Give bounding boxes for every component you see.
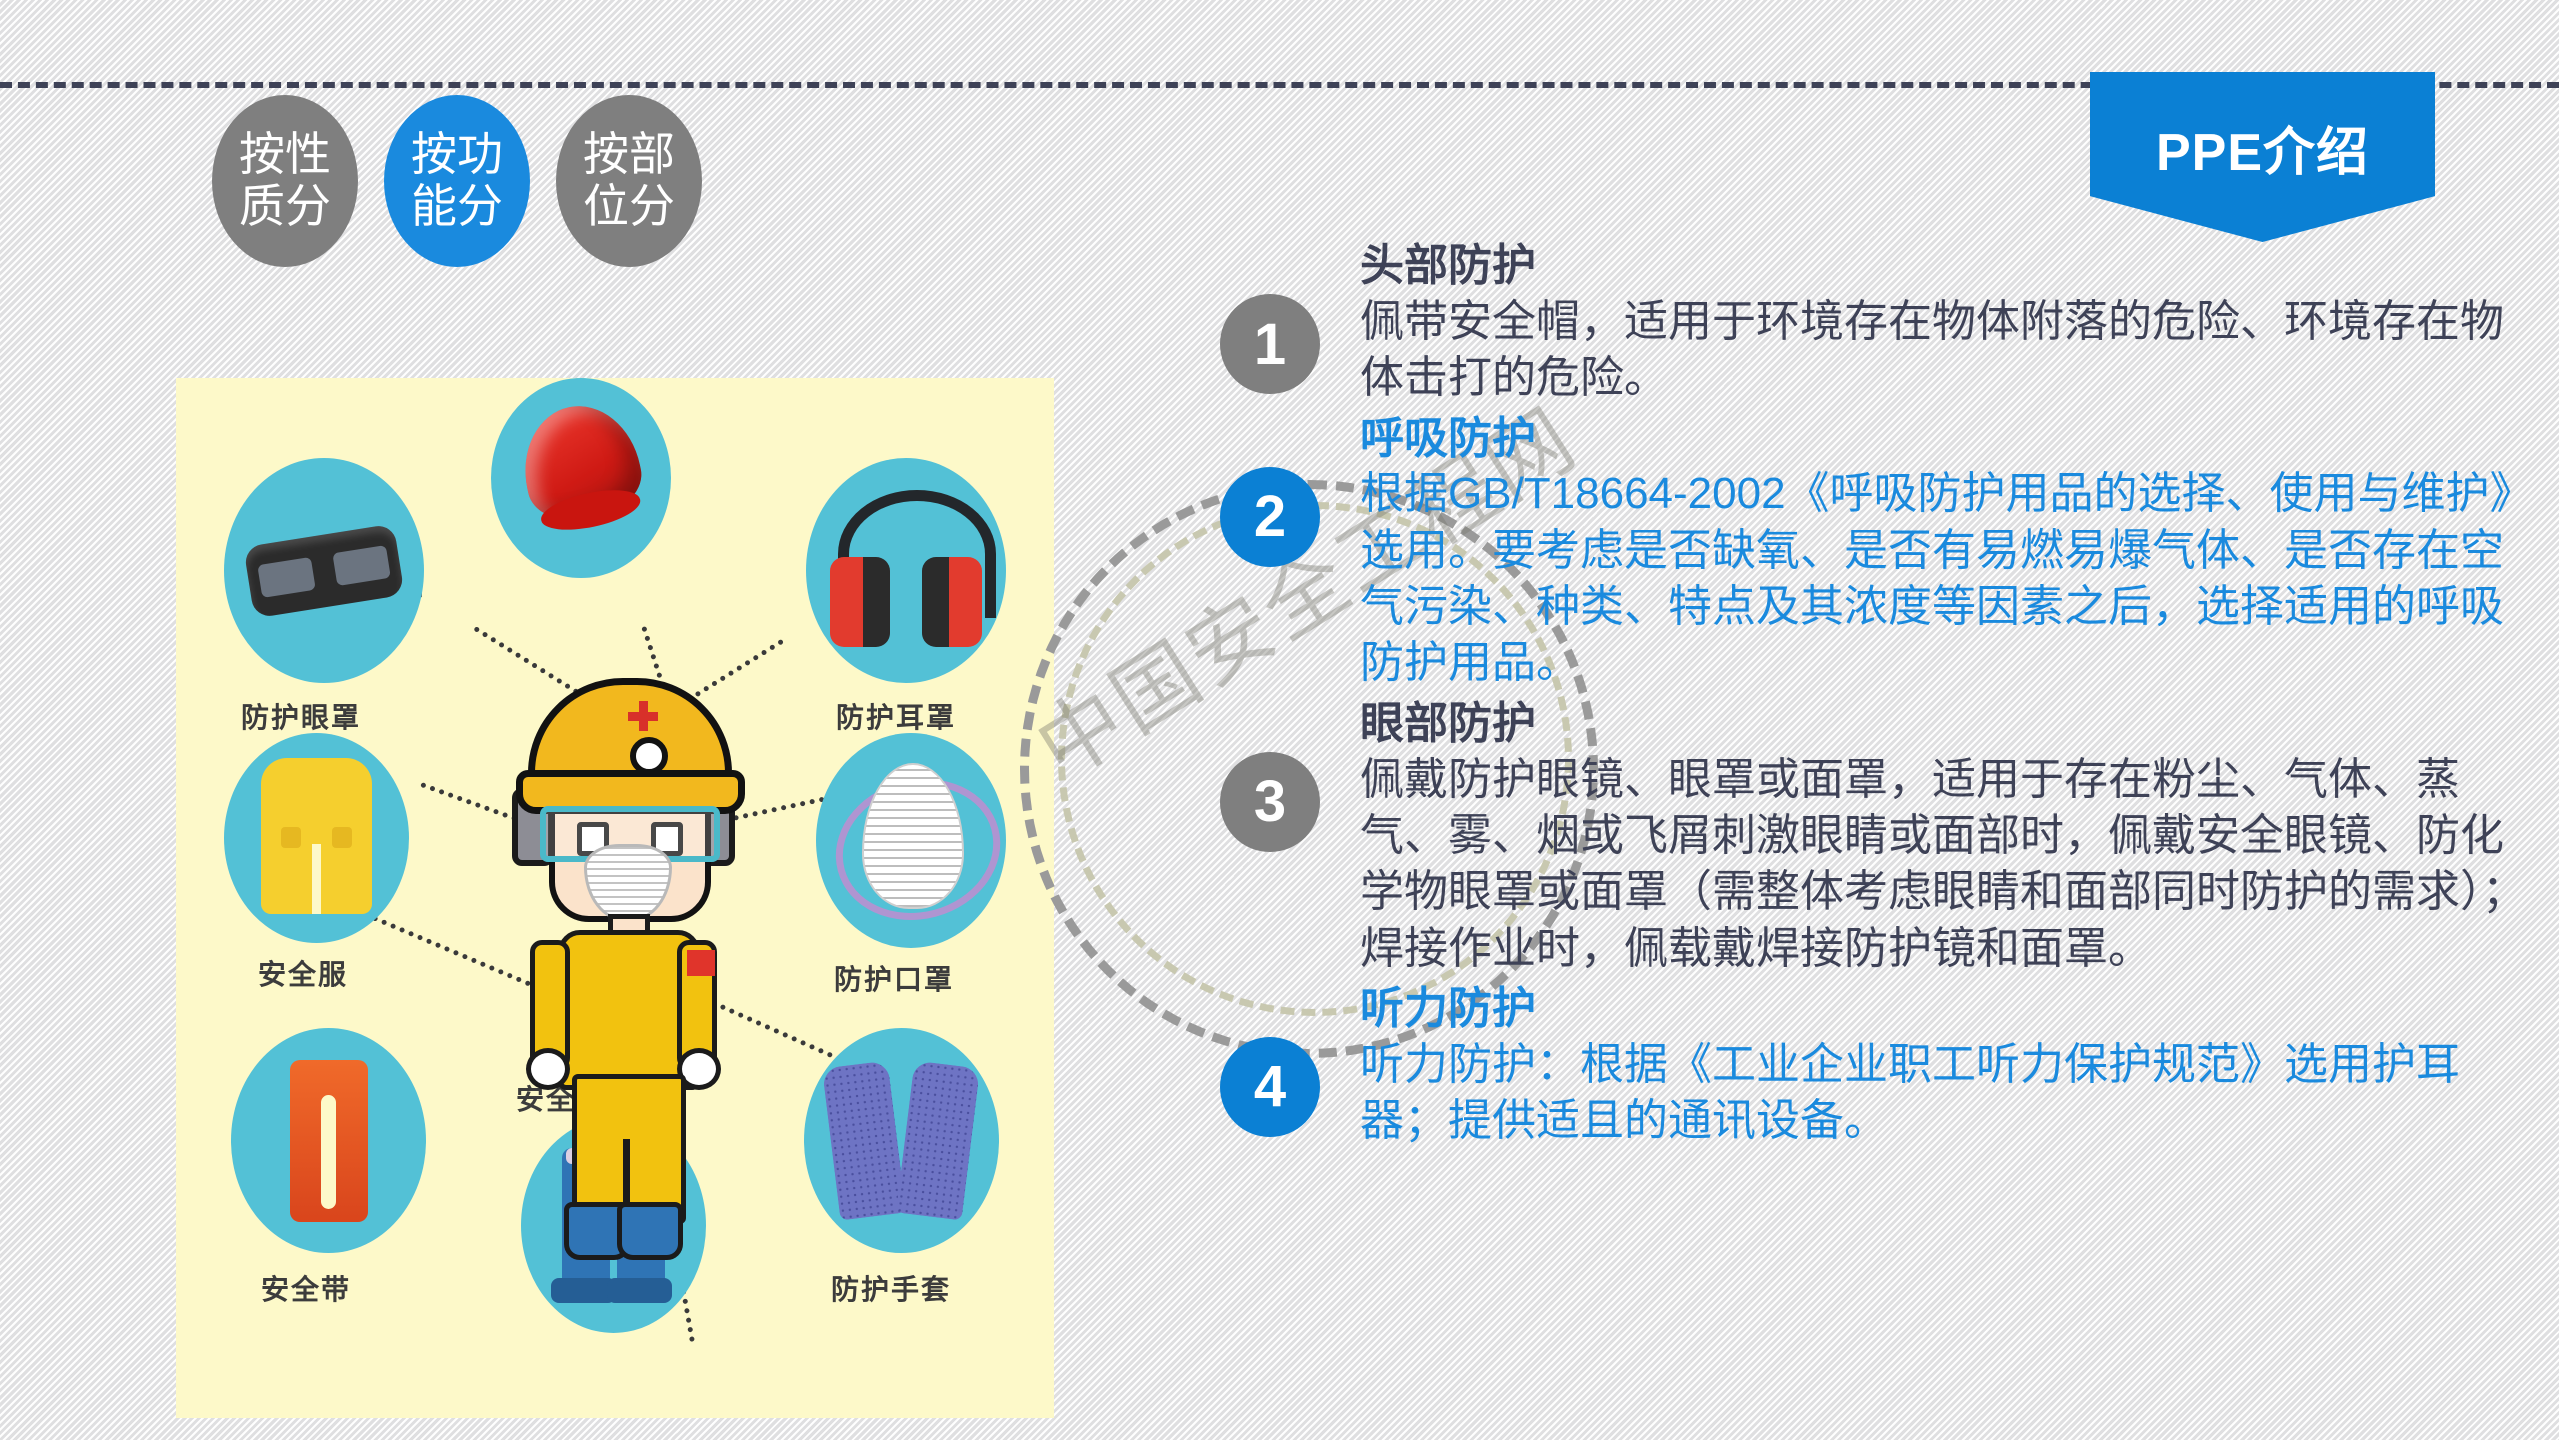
hard-hat-icon bbox=[513, 395, 649, 529]
coverall-pocket-left bbox=[281, 827, 301, 849]
category-pill-by-bodypart-line1: 按部 bbox=[583, 129, 675, 181]
safety-gloves-icon bbox=[822, 1061, 906, 1221]
ppe-item-eye-protection: 3 眼部防护 佩戴防护眼镜、眼罩或面罩，适用于存在粉尘、气体、蒸气、雾、烟或飞屑… bbox=[1220, 698, 2540, 977]
ear-muffs-cup-right bbox=[922, 557, 982, 647]
ppe-item-2-number: 2 bbox=[1220, 467, 1320, 567]
safety-goggles-icon bbox=[243, 523, 404, 618]
node-harness-label: 安全带 bbox=[261, 1268, 351, 1308]
ppe-item-3-number: 3 bbox=[1220, 752, 1320, 852]
worker-boot-right bbox=[617, 1202, 683, 1260]
category-pill-by-function-line2: 能分 bbox=[411, 181, 503, 233]
node-goggles-label: 防护眼罩 bbox=[241, 696, 361, 736]
category-pill-group: 按性 质分 按功 能分 按部 位分 bbox=[212, 95, 702, 267]
node-coverall[interactable] bbox=[224, 733, 409, 943]
ppe-illustration-panel: 安全帽 防护眼罩 防护耳罩 安全服 防护口罩 安全带 安全鞋 防护手套 bbox=[176, 378, 1054, 1418]
category-pill-by-nature-line1: 按性 bbox=[239, 129, 331, 181]
category-pill-by-bodypart[interactable]: 按部 位分 bbox=[556, 95, 702, 267]
category-pill-by-function-line1: 按功 bbox=[411, 129, 503, 181]
ppe-item-4-title: 听力防护 bbox=[1360, 983, 2540, 1035]
ppe-item-1-title: 头部防护 bbox=[1360, 240, 2540, 292]
ppe-item-2-title: 呼吸防护 bbox=[1360, 413, 2540, 465]
node-earmuff[interactable] bbox=[806, 458, 1006, 683]
node-mask[interactable] bbox=[816, 733, 1006, 948]
node-gloves-label: 防护手套 bbox=[831, 1268, 951, 1308]
node-goggles[interactable] bbox=[224, 458, 424, 683]
node-harness[interactable] bbox=[231, 1028, 426, 1253]
category-pill-by-function[interactable]: 按功 能分 bbox=[384, 95, 530, 267]
worker-red-cross-icon bbox=[628, 701, 658, 731]
category-pill-by-bodypart-line2: 位分 bbox=[583, 181, 675, 233]
coverall-pocket-right bbox=[332, 827, 352, 849]
ppe-item-4-number: 4 bbox=[1220, 1037, 1320, 1137]
ppe-banner-label: PPE介绍 bbox=[2156, 110, 2369, 185]
worker-armband bbox=[687, 950, 715, 976]
ppe-item-3-title: 眼部防护 bbox=[1360, 698, 2540, 750]
category-pill-by-nature-line2: 质分 bbox=[239, 181, 331, 233]
safety-gloves-icon-right bbox=[896, 1061, 980, 1221]
node-gloves[interactable] bbox=[804, 1028, 999, 1253]
ppe-item-hearing-protection: 4 听力防护 听力防护：根据《工业企业职工听力保护规范》选用护耳器；提供适且的通… bbox=[1220, 983, 2540, 1150]
ppe-item-head-protection: 1 头部防护 佩带安全帽，适用于环境存在物体附落的危险、环境存在物体击打的危险。 bbox=[1220, 240, 2540, 407]
ppe-item-3-body: 佩戴防护眼镜、眼罩或面罩，适用于存在粉尘、气体、蒸气、雾、烟或飞屑刺激眼睛或面部… bbox=[1360, 752, 2540, 977]
coverall-icon bbox=[261, 758, 372, 913]
ppe-item-1-body: 佩带安全帽，适用于环境存在物体附落的危险、环境存在物体击打的危险。 bbox=[1360, 294, 2540, 407]
worker-figure-icon bbox=[516, 678, 731, 1278]
ppe-banner: PPE介绍 bbox=[2090, 72, 2435, 242]
ppe-item-2-body: 根据GB/T18664-2002《呼吸防护用品的选择、使用与维护》选用。要考虑是… bbox=[1360, 466, 2540, 691]
ppe-item-respiratory-protection: 2 呼吸防护 根据GB/T18664-2002《呼吸防护用品的选择、使用与维护》… bbox=[1220, 413, 2540, 692]
safety-harness-icon bbox=[290, 1060, 368, 1222]
category-pill-by-nature[interactable]: 按性 质分 bbox=[212, 95, 358, 267]
ppe-detail-list: 1 头部防护 佩带安全帽，适用于环境存在物体附落的危险、环境存在物体击打的危险。… bbox=[1220, 240, 2540, 1155]
node-mask-label: 防护口罩 bbox=[834, 958, 954, 998]
worker-hand-left bbox=[526, 1048, 570, 1090]
node-coverall-label: 安全服 bbox=[258, 953, 348, 993]
ppe-item-1-number: 1 bbox=[1220, 294, 1320, 394]
node-earmuff-label: 防护耳罩 bbox=[836, 696, 956, 736]
ppe-item-4-body: 听力防护：根据《工业企业职工听力保护规范》选用护耳器；提供适且的通讯设备。 bbox=[1360, 1037, 2540, 1150]
node-helmet[interactable] bbox=[491, 378, 671, 578]
ear-muffs-cup-left bbox=[830, 557, 890, 647]
